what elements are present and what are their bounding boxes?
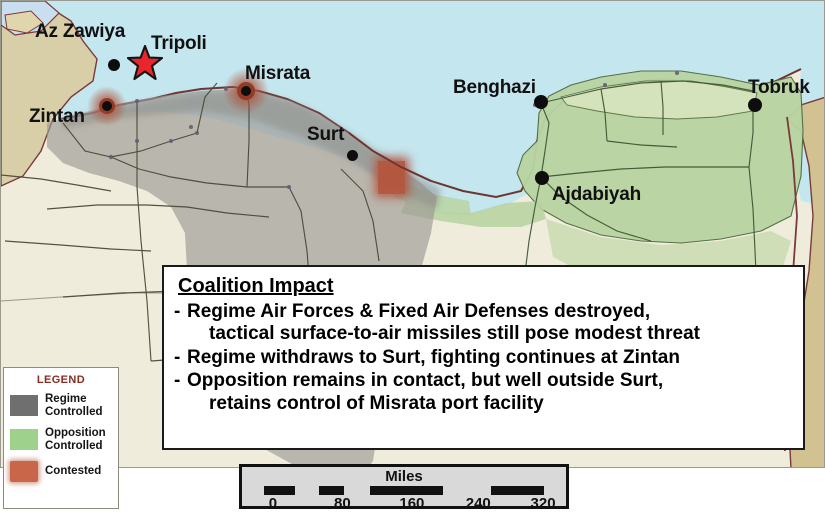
city-label-ajdabiyah: Ajdabiyah [552, 184, 641, 206]
bullet-1-line-1: Regime Air Forces & Fixed Air Defenses d… [187, 301, 650, 322]
city-label-az-zawiya: Az Zawiya [35, 21, 125, 43]
scale-segment [370, 486, 443, 495]
city-dot-misrata[interactable] [241, 86, 251, 96]
coalition-impact-callout: Coalition Impact - Regime Air Forces & F… [162, 265, 805, 450]
city-dot-ajdabiyah[interactable] [535, 171, 549, 185]
callout-bullet-1: - Regime Air Forces & Fixed Air Defenses… [174, 301, 793, 346]
screenshot-root: Az Zawiya Tripoli Misrata Surt Zintan Be… [0, 0, 825, 512]
city-label-zintan: Zintan [29, 106, 85, 128]
city-label-benghazi: Benghazi [453, 77, 536, 99]
callout-bullet-3: - Opposition remains in contact, but wel… [174, 370, 793, 415]
legend-title: LEGEND [10, 374, 112, 386]
legend-item-regime[interactable]: Regime Controlled [10, 393, 112, 419]
city-dot-surt[interactable] [347, 150, 358, 161]
legend-label-regime-line1: Regime [45, 393, 103, 406]
legend-label-contested-line1: Contested [45, 465, 101, 478]
scale-segment [491, 486, 544, 495]
scale-bar-ticks: 0 80 160 240 320 [246, 495, 562, 512]
callout-bullet-2: - Regime withdraws to Surt, fighting con… [174, 347, 793, 369]
bullet-dash: - [174, 370, 187, 415]
legend-item-opposition[interactable]: Opposition Controlled [10, 427, 112, 453]
city-label-misrata: Misrata [245, 63, 310, 85]
legend-swatch-opposition-icon [10, 429, 38, 450]
city-label-tripoli: Tripoli [151, 33, 207, 55]
bullet-3-line-2: retains control of Misrata port facility [187, 393, 793, 415]
city-label-tobruk: Tobruk [748, 77, 810, 99]
legend-label-opposition-line2: Controlled [45, 440, 106, 453]
scale-tick-160: 160 [399, 495, 424, 512]
bullet-dash: - [174, 301, 187, 346]
legend-swatch-regime-icon [10, 395, 38, 416]
map-canvas[interactable]: Az Zawiya Tripoli Misrata Surt Zintan Be… [0, 0, 825, 468]
legend-label-opposition-line1: Opposition [45, 427, 106, 440]
scale-bar-segments [264, 486, 544, 495]
city-dot-zintan[interactable] [102, 101, 112, 111]
scale-tick-240: 240 [466, 495, 491, 512]
scale-tick-0: 0 [269, 495, 277, 512]
scale-bar-title: Miles [242, 469, 566, 484]
city-dot-tobruk[interactable] [748, 98, 762, 112]
city-dot-az-zawiya[interactable] [108, 59, 120, 71]
scale-tick-80: 80 [334, 495, 351, 512]
bullet-3-line-1: Opposition remains in contact, but well … [187, 370, 663, 391]
callout-title: Coalition Impact [178, 275, 334, 298]
city-dot-benghazi[interactable] [534, 95, 548, 109]
map-scale-bar: Miles 0 80 160 240 320 [239, 464, 569, 509]
legend-item-contested[interactable]: Contested [10, 461, 112, 482]
scale-segment [264, 486, 295, 495]
bullet-2-line-1: Regime withdraws to Surt, fighting conti… [187, 347, 680, 368]
legend-swatch-contested-icon [10, 461, 38, 482]
legend-label-regime-line2: Controlled [45, 406, 103, 419]
map-legend: LEGEND Regime Controlled Opposition Cont… [3, 367, 119, 509]
scale-segment [319, 486, 344, 495]
scale-tick-320: 320 [531, 495, 556, 512]
bullet-dash: - [174, 347, 187, 369]
bullet-1-line-2: tactical surface-to-air missiles still p… [187, 323, 793, 345]
city-label-surt: Surt [307, 124, 344, 146]
